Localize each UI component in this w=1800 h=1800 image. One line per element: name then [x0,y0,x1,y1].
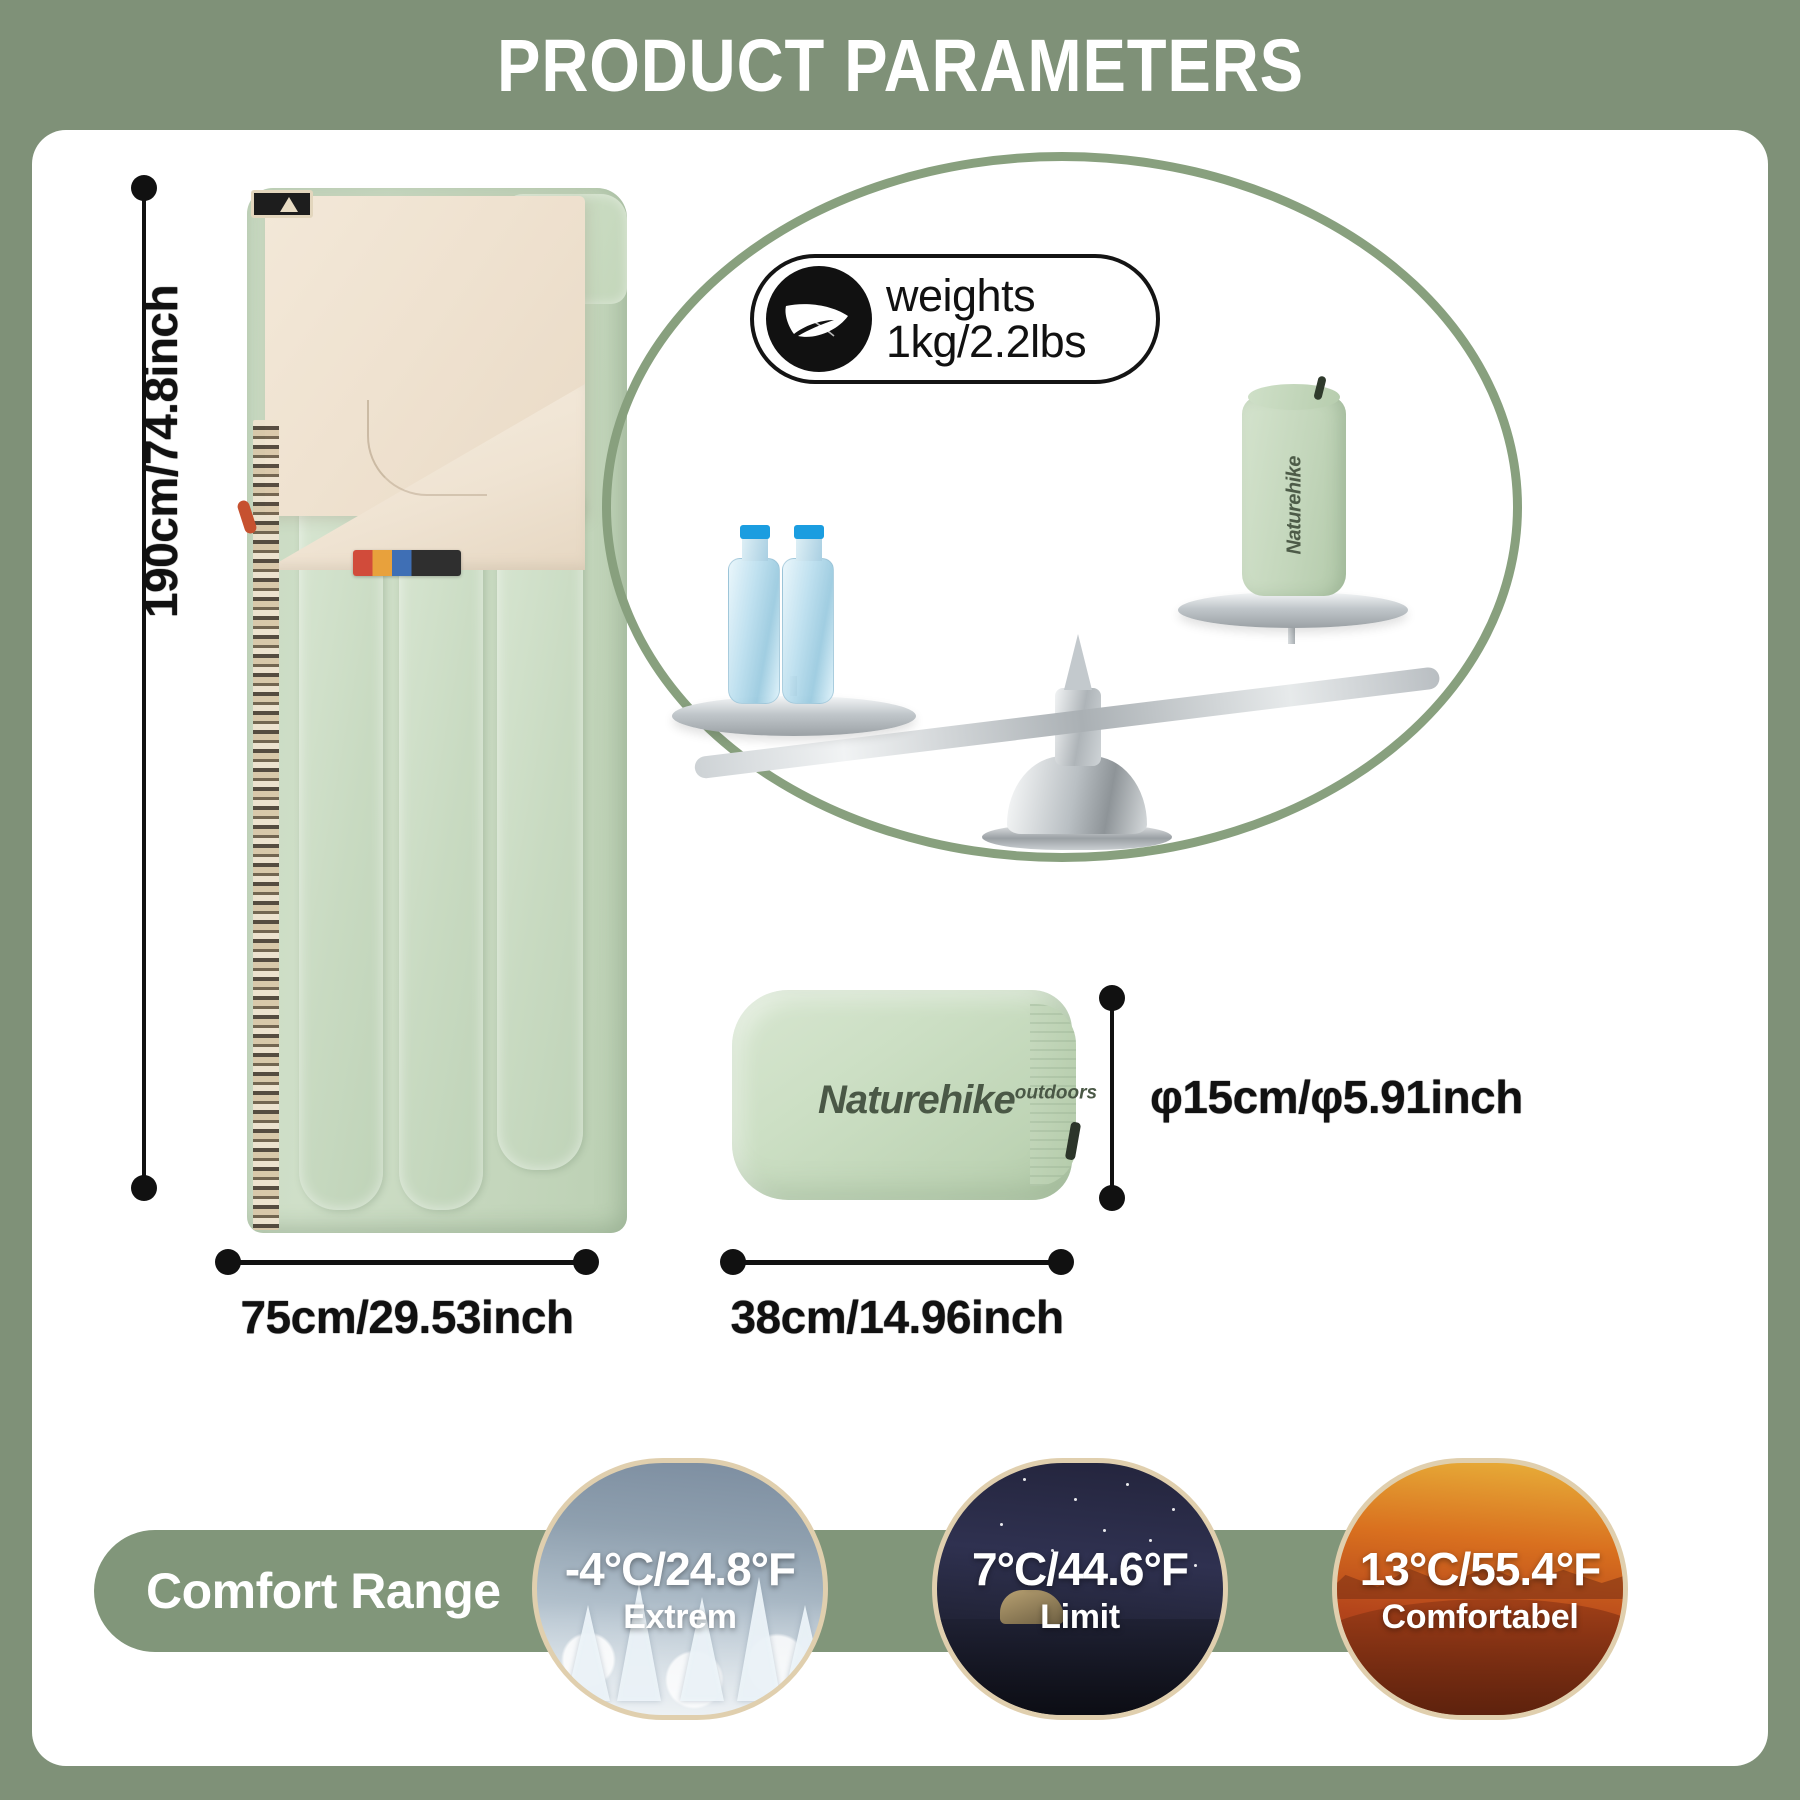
content-panel: 190cm/74.8inch 75cm/29.53inch weights 1k… [32,130,1768,1766]
weight-badge: weights 1kg/2.2lbs [750,254,1160,384]
temperature-name: Limit [1040,1598,1120,1637]
stuff-sack-top [1248,384,1340,410]
tree-icon [783,1605,827,1701]
bag-quilt-channel [399,470,483,1210]
bag-quilt-channel [299,470,383,1210]
width-dimension-line: 75cm/29.53inch [227,1260,587,1265]
length-dimension-line: 190cm/74.8inch [142,188,146,1188]
sack-brand-logo: Naturehikeoutdoors [818,1078,1097,1123]
bag-woven-trim [253,420,279,1230]
temperature-name: Extrem [623,1598,736,1637]
bag-care-label-tag [251,190,313,218]
diameter-dimension-label: φ15cm/φ5.91inch [1150,1070,1523,1124]
brand-name-text: Naturehike [818,1078,1015,1122]
bag-logo-patch [353,550,461,576]
weight-badge-line1: weights [886,273,1086,319]
page-title: PRODUCT PARAMETERS [497,23,1304,108]
dimension-endpoint-dot [1099,1185,1125,1211]
compressed-sack-illustration: Naturehikeoutdoors [732,990,1072,1200]
water-bottle [782,558,834,704]
temperature-name: Comfortabel [1382,1598,1579,1637]
brand-sup-text: outdoors [1015,1083,1097,1104]
temperature-value: -4°C/24.8°F [565,1542,795,1596]
scale-needle [1064,634,1092,690]
dimension-endpoint-dot [215,1249,241,1275]
diameter-dimension-line: φ15cm/φ5.91inch [1110,998,1114,1198]
temperature-value: 13°C/55.4°F [1360,1542,1601,1596]
stuff-sack-on-scale: Naturehike [1242,396,1346,596]
temperature-value: 7°C/44.6°F [972,1542,1188,1596]
header: PRODUCT PARAMETERS [0,0,1800,130]
comfort-range-label: Comfort Range [146,1562,501,1620]
scale-bell [1007,756,1147,834]
sleeping-bag-illustration [207,170,627,1240]
water-bottle [728,558,780,704]
weight-badge-text: weights 1kg/2.2lbs [886,273,1086,365]
balance-scale-illustration: Naturehike [672,530,1462,850]
tree-icon [566,1605,610,1701]
sack-width-dimension-line: 38cm/14.96inch [732,1260,1062,1265]
length-dimension-label: 190cm/74.8inch [134,285,188,618]
bag-quilt-channel [497,470,583,1170]
dimension-endpoint-dot [131,1175,157,1201]
dimension-endpoint-dot [1099,985,1125,1011]
infographic-root: PRODUCT PARAMETERS 190cm/74.8inch [0,0,1800,1800]
sack-width-dimension-label: 38cm/14.96inch [730,1290,1063,1344]
stuff-sack-logo: Naturehike [1284,469,1307,555]
dimension-endpoint-dot [131,175,157,201]
temperature-card-comfortabel: 13°C/55.4°F Comfortabel [1332,1458,1628,1720]
feather-icon [766,266,872,372]
width-dimension-label: 75cm/29.53inch [240,1290,573,1344]
scale-pan-right [1178,592,1408,628]
weight-badge-line2: 1kg/2.2lbs [886,319,1086,365]
tree-icon [737,1577,781,1701]
dimension-endpoint-dot [573,1249,599,1275]
dimension-endpoint-dot [1048,1249,1074,1275]
temperature-card-limit: 7°C/44.6°F Limit [932,1458,1228,1720]
temperature-card-extrem: -4°C/24.8°F Extrem [532,1458,828,1720]
dimension-endpoint-dot [720,1249,746,1275]
